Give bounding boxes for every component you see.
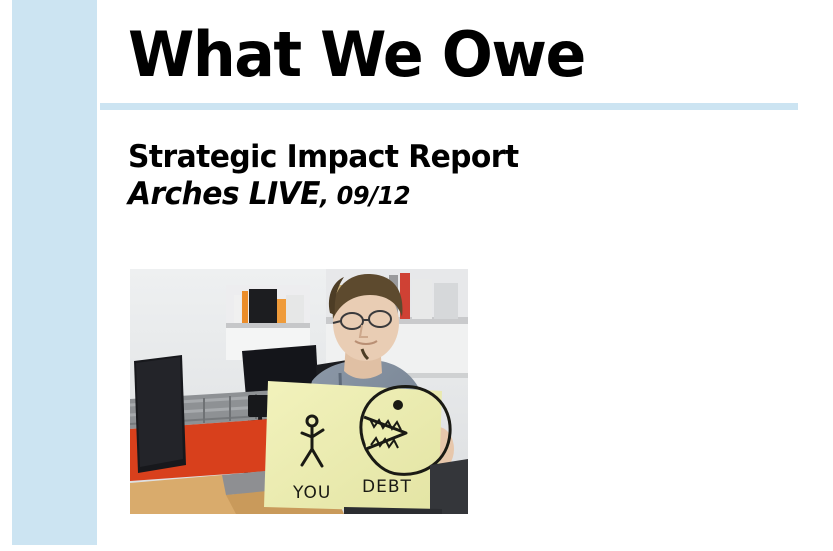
shelf-box-3 (434, 283, 458, 319)
monitor-left-screen (136, 357, 183, 467)
shelf-left-folder-orange-2 (277, 299, 286, 323)
event-date: , 09/12 (320, 181, 410, 210)
subtitle-block: Strategic Impact Report Arches LIVE, 09/… (128, 139, 818, 212)
decorative-side-band (12, 0, 97, 545)
shelf-left-paper (234, 295, 241, 323)
poster-label-you: YOU (292, 483, 331, 503)
shelf-left-binder-black (249, 289, 277, 323)
event-name: Arches LIVE (128, 176, 320, 212)
shelf-box-2 (412, 279, 432, 319)
photo-illustration: YOU DEBT (130, 269, 468, 514)
poster-paper (264, 381, 442, 512)
poster-label-debt: DEBT (362, 477, 412, 497)
page-title: What We Owe (128, 22, 797, 87)
slide-photo: YOU DEBT (130, 269, 468, 514)
title-block: What We Owe (128, 22, 818, 87)
report-subtitle: Strategic Impact Report (128, 139, 790, 176)
shelf-left-folder-orange (242, 291, 248, 323)
lap-shadow-right (430, 459, 468, 514)
title-divider-rule (100, 103, 798, 110)
poster-debt-eye (393, 400, 403, 410)
shelf-left-box (286, 295, 304, 323)
shelf-left-board (226, 323, 310, 328)
event-line: Arches LIVE, 09/12 (128, 176, 790, 213)
